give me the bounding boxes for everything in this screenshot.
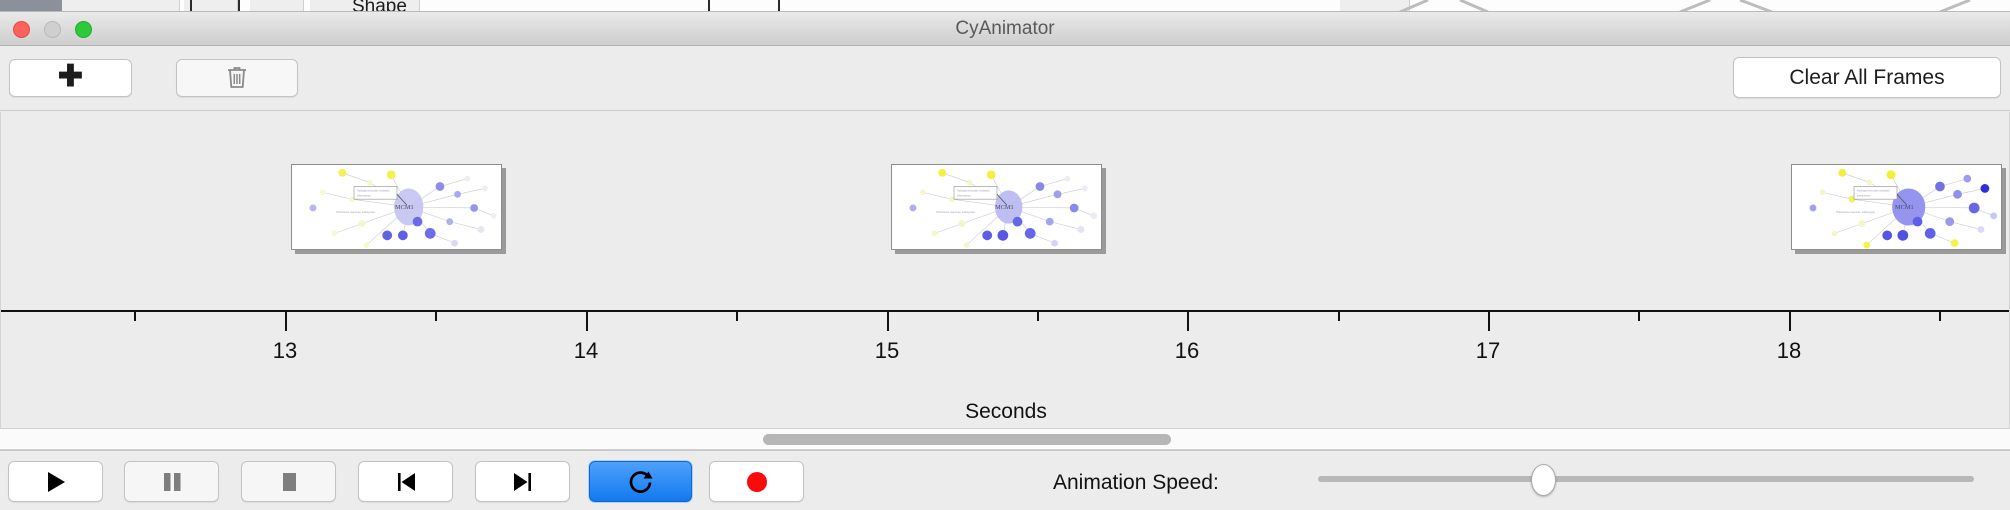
timeline-tick-minor <box>134 310 136 321</box>
svg-text:Hydrogen-peroxide-mediated: Hydrogen-peroxide-mediated <box>1857 189 1890 192</box>
loop-icon <box>627 468 655 496</box>
window-title: CyAnimator <box>0 18 2010 40</box>
background-window-chunk <box>62 0 180 12</box>
skip-to-end-button[interactable] <box>475 461 570 502</box>
timeline-tick-major <box>1187 310 1189 331</box>
frame-thumbnail-15[interactable]: Hydrogen-peroxide-mediated transcription… <box>891 164 1102 250</box>
graph-node-label: MCM1 <box>395 204 414 211</box>
timeline-axis <box>1 310 2010 312</box>
animation-speed-label: Animation Speed: <box>1053 471 1219 495</box>
timeline-tick-minor <box>736 310 738 321</box>
graph-node-label: MCM1 <box>995 204 1014 211</box>
background-window-curves <box>1380 0 2010 12</box>
background-window-chunk <box>250 0 304 12</box>
add-frame-button[interactable]: ✚ <box>9 59 132 97</box>
timeline-tick-minor <box>1338 310 1340 321</box>
timeline-tick-label: 16 <box>1175 338 1199 364</box>
graph-node-label: MCM1 <box>1895 204 1914 211</box>
skip-to-start-button[interactable] <box>358 461 453 502</box>
clear-all-frames-label: Clear All Frames <box>1789 66 1944 90</box>
timeline-tick-label: 14 <box>574 338 598 364</box>
background-window-divider <box>708 0 710 12</box>
pause-button[interactable] <box>124 461 219 502</box>
network-graph-preview: Hydrogen-peroxide-mediated transcription… <box>292 165 501 249</box>
timeline-scrollbar[interactable] <box>0 428 2010 450</box>
record-icon <box>745 470 769 494</box>
background-window-divider <box>238 0 240 12</box>
network-graph-preview: Hydrogen-peroxide-mediated transcription… <box>892 165 1101 249</box>
timeline-tick-major <box>887 310 889 331</box>
frame-thumbnail-13[interactable]: Hydrogen-peroxide-mediated transcription… <box>291 164 502 250</box>
stop-icon <box>278 470 300 494</box>
play-button[interactable] <box>8 461 103 502</box>
delete-frame-button[interactable] <box>176 59 298 97</box>
animation-speed-slider-thumb[interactable] <box>1531 464 1556 496</box>
timeline-tick-label: 15 <box>875 338 899 364</box>
timeline-tick-minor <box>1638 310 1640 321</box>
network-graph-preview: Hydrogen-peroxide-mediated transcription… <box>1792 165 2001 249</box>
svg-text:transcription: transcription <box>957 194 971 197</box>
timeline-axis-label: Seconds <box>1 400 2010 424</box>
svg-text:Pheromone response, mating-typ: Pheromone response, mating-type <box>336 211 375 214</box>
timeline-scrollbar-thumb[interactable] <box>763 434 1171 445</box>
background-window-text: Shape <box>352 0 407 12</box>
toolbar: ✚ Clear All Frames <box>0 46 2010 111</box>
background-window-divider <box>778 0 780 12</box>
timeline-tick-major <box>1488 310 1490 331</box>
timeline-tick-major <box>586 310 588 331</box>
toolbar-separator <box>0 110 2010 111</box>
svg-text:transcription: transcription <box>357 194 371 197</box>
timeline-tick-label: 17 <box>1476 338 1500 364</box>
timeline-tick-major <box>285 310 287 331</box>
skip-forward-icon <box>511 470 535 494</box>
frame-thumbnail-18[interactable]: Hydrogen-peroxide-mediated transcription… <box>1791 164 2002 250</box>
animation-speed-slider-track[interactable] <box>1318 476 1974 482</box>
svg-text:Hydrogen-peroxide-mediated: Hydrogen-peroxide-mediated <box>957 189 990 192</box>
trash-icon <box>226 65 248 91</box>
timeline-tick-minor <box>1037 310 1039 321</box>
svg-text:Pheromone response, mating-typ: Pheromone response, mating-type <box>936 211 975 214</box>
timeline-tick-minor <box>1939 310 1941 321</box>
svg-text:Pheromone response, mating-typ: Pheromone response, mating-type <box>1836 211 1875 214</box>
clear-all-frames-button[interactable]: Clear All Frames <box>1733 57 2001 98</box>
pause-icon <box>161 470 183 494</box>
skip-backward-icon <box>394 470 418 494</box>
background-window-strip: Shape <box>0 0 2010 12</box>
stop-button[interactable] <box>241 461 336 502</box>
timeline-tick-minor <box>435 310 437 321</box>
cyanimator-window: Shape CyAnimator ✚ Clear All Frames <box>0 0 2010 510</box>
play-icon <box>45 470 67 494</box>
timeline-tick-label: 13 <box>273 338 297 364</box>
record-button[interactable] <box>709 461 804 502</box>
loop-button[interactable] <box>589 461 692 502</box>
timeline-tick-major <box>1789 310 1791 331</box>
title-bar: CyAnimator <box>0 12 2010 46</box>
background-window-chunk <box>184 0 238 12</box>
svg-text:Hydrogen-peroxide-mediated: Hydrogen-peroxide-mediated <box>357 189 390 192</box>
timeline-tick-label: 18 <box>1777 338 1801 364</box>
background-window-dark-block <box>0 0 62 11</box>
plus-icon: ✚ <box>58 62 83 92</box>
background-window-divider <box>190 0 192 12</box>
timeline-panel[interactable]: Hydrogen-peroxide-mediated transcription… <box>0 112 2010 430</box>
svg-text:transcription: transcription <box>1857 194 1871 197</box>
